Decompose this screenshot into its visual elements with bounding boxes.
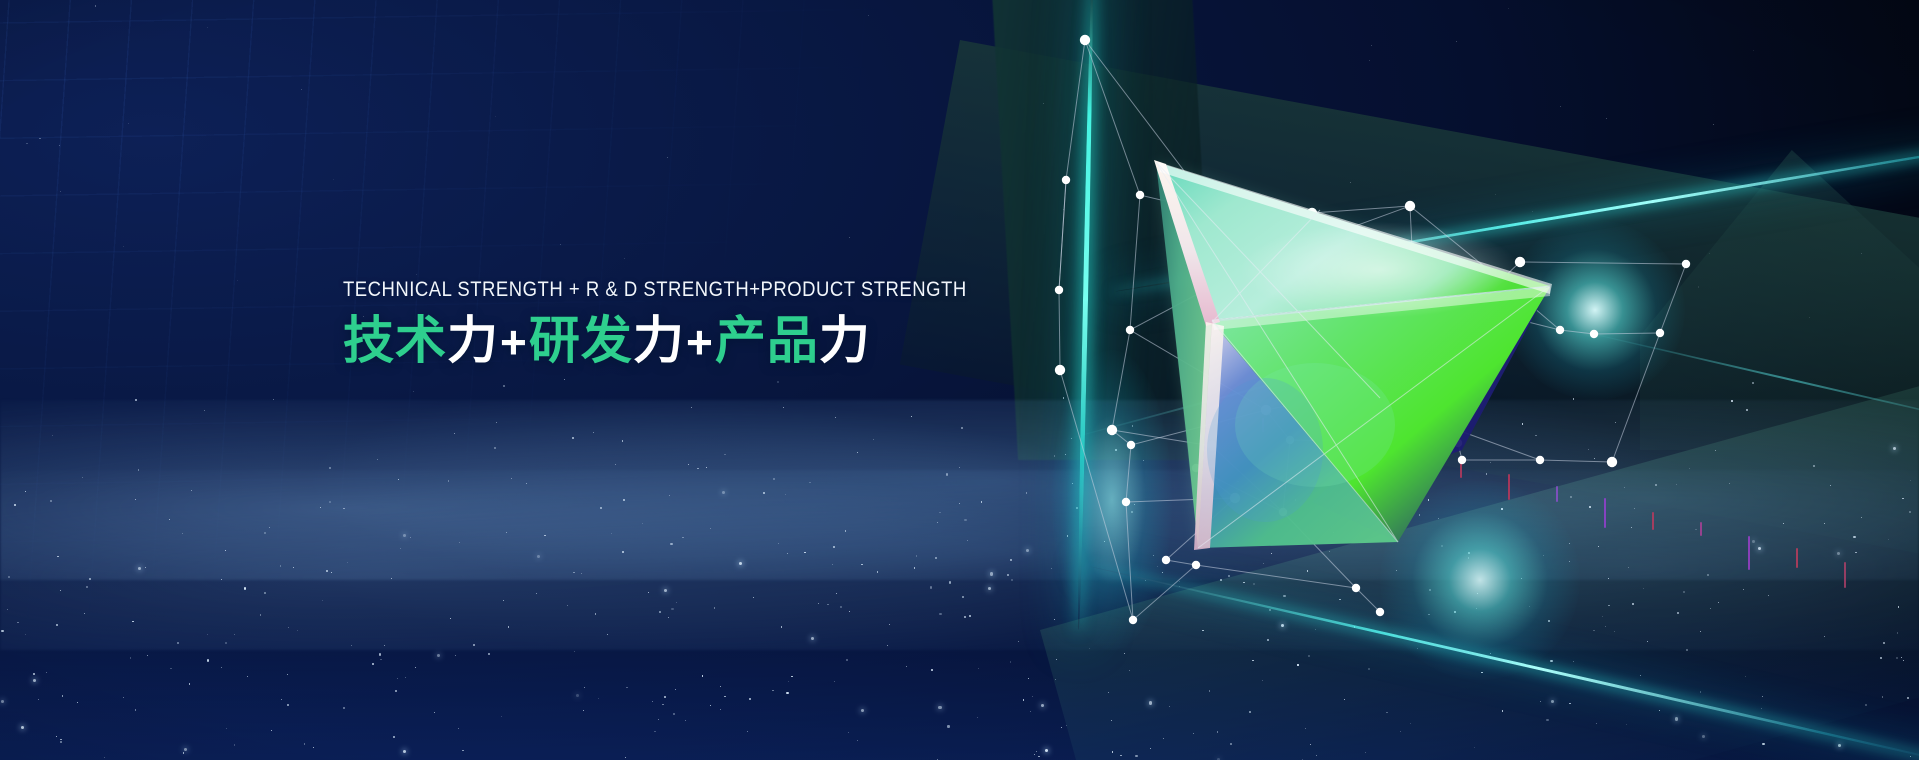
network-node [1080, 35, 1090, 45]
headline-segment-6: 产品 [715, 312, 819, 369]
network-edge [1059, 290, 1060, 370]
network-node [1055, 365, 1065, 375]
headline-segment-0: 技术 [343, 312, 447, 369]
network-node [1656, 329, 1664, 337]
constellation-network [0, 0, 1919, 760]
network-edge [1059, 180, 1066, 290]
eyebrow-text: TECHNICAL STRENGTH + R & D STRENGTH+PROD… [343, 277, 945, 302]
network-node [1055, 286, 1063, 294]
network-node [1062, 176, 1070, 184]
network-node [1682, 260, 1690, 268]
headline-segment-4: 力 [633, 312, 685, 369]
network-node [1129, 616, 1137, 624]
network-edge [1660, 264, 1686, 333]
hero-banner: TECHNICAL STRENGTH + R & D STRENGTH+PROD… [0, 0, 1919, 760]
page-title: 技术力+研发力+产品力 [343, 311, 1043, 371]
headline-segment-3: 研发 [529, 312, 633, 369]
headline-segment-7: 力 [819, 312, 871, 369]
headline-segment-2: + [499, 316, 529, 368]
headline-segment-1: 力 [447, 312, 499, 369]
hero-copy: TECHNICAL STRENGTH + R & D STRENGTH+PROD… [343, 277, 1043, 371]
prism-graphic [1080, 150, 1620, 610]
headline-segment-5: + [685, 316, 715, 368]
